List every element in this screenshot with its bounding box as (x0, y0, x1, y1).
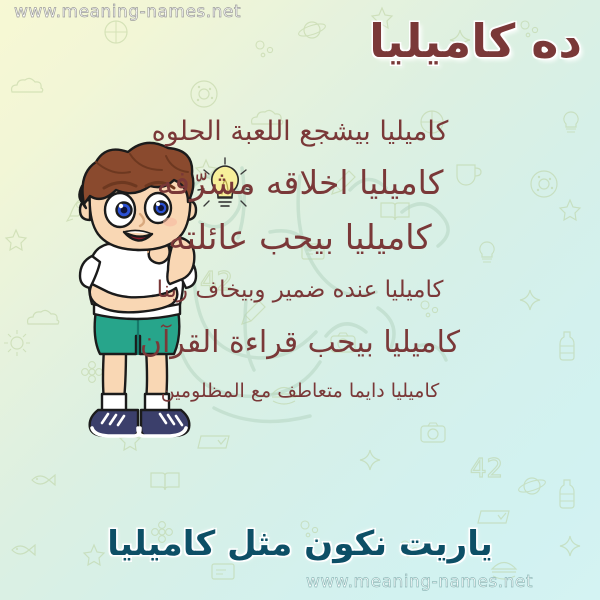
phrase-item: كاميليا بيحب عائلته (8, 221, 592, 255)
phrase-item: كاميليا بيحب قراءة القرآن (8, 328, 592, 358)
site-watermark-top: www.meaning-names.net (14, 2, 241, 22)
phrase-item: كاميليا بيشجع اللعبة الحلوه (8, 118, 592, 145)
name-meaning-card: 42 (0, 0, 600, 600)
site-watermark-bottom: www.meaning-names.net (306, 572, 533, 592)
phrase-list: كاميليا بيشجع اللعبة الحلوه كاميليا اخلا… (8, 118, 592, 401)
wish-line: ياريت نكون مثل كاميليا (0, 524, 600, 564)
phrase-item: كاميليا اخلاقه مشرّفه (8, 166, 592, 199)
phrase-item: كاميليا عنده ضمير وبيخاف ربنا (8, 279, 592, 302)
page-title: ده كاميليا (369, 16, 582, 67)
phrase-item: كاميليا دايما متعاطف مع المظلومين (8, 382, 592, 401)
